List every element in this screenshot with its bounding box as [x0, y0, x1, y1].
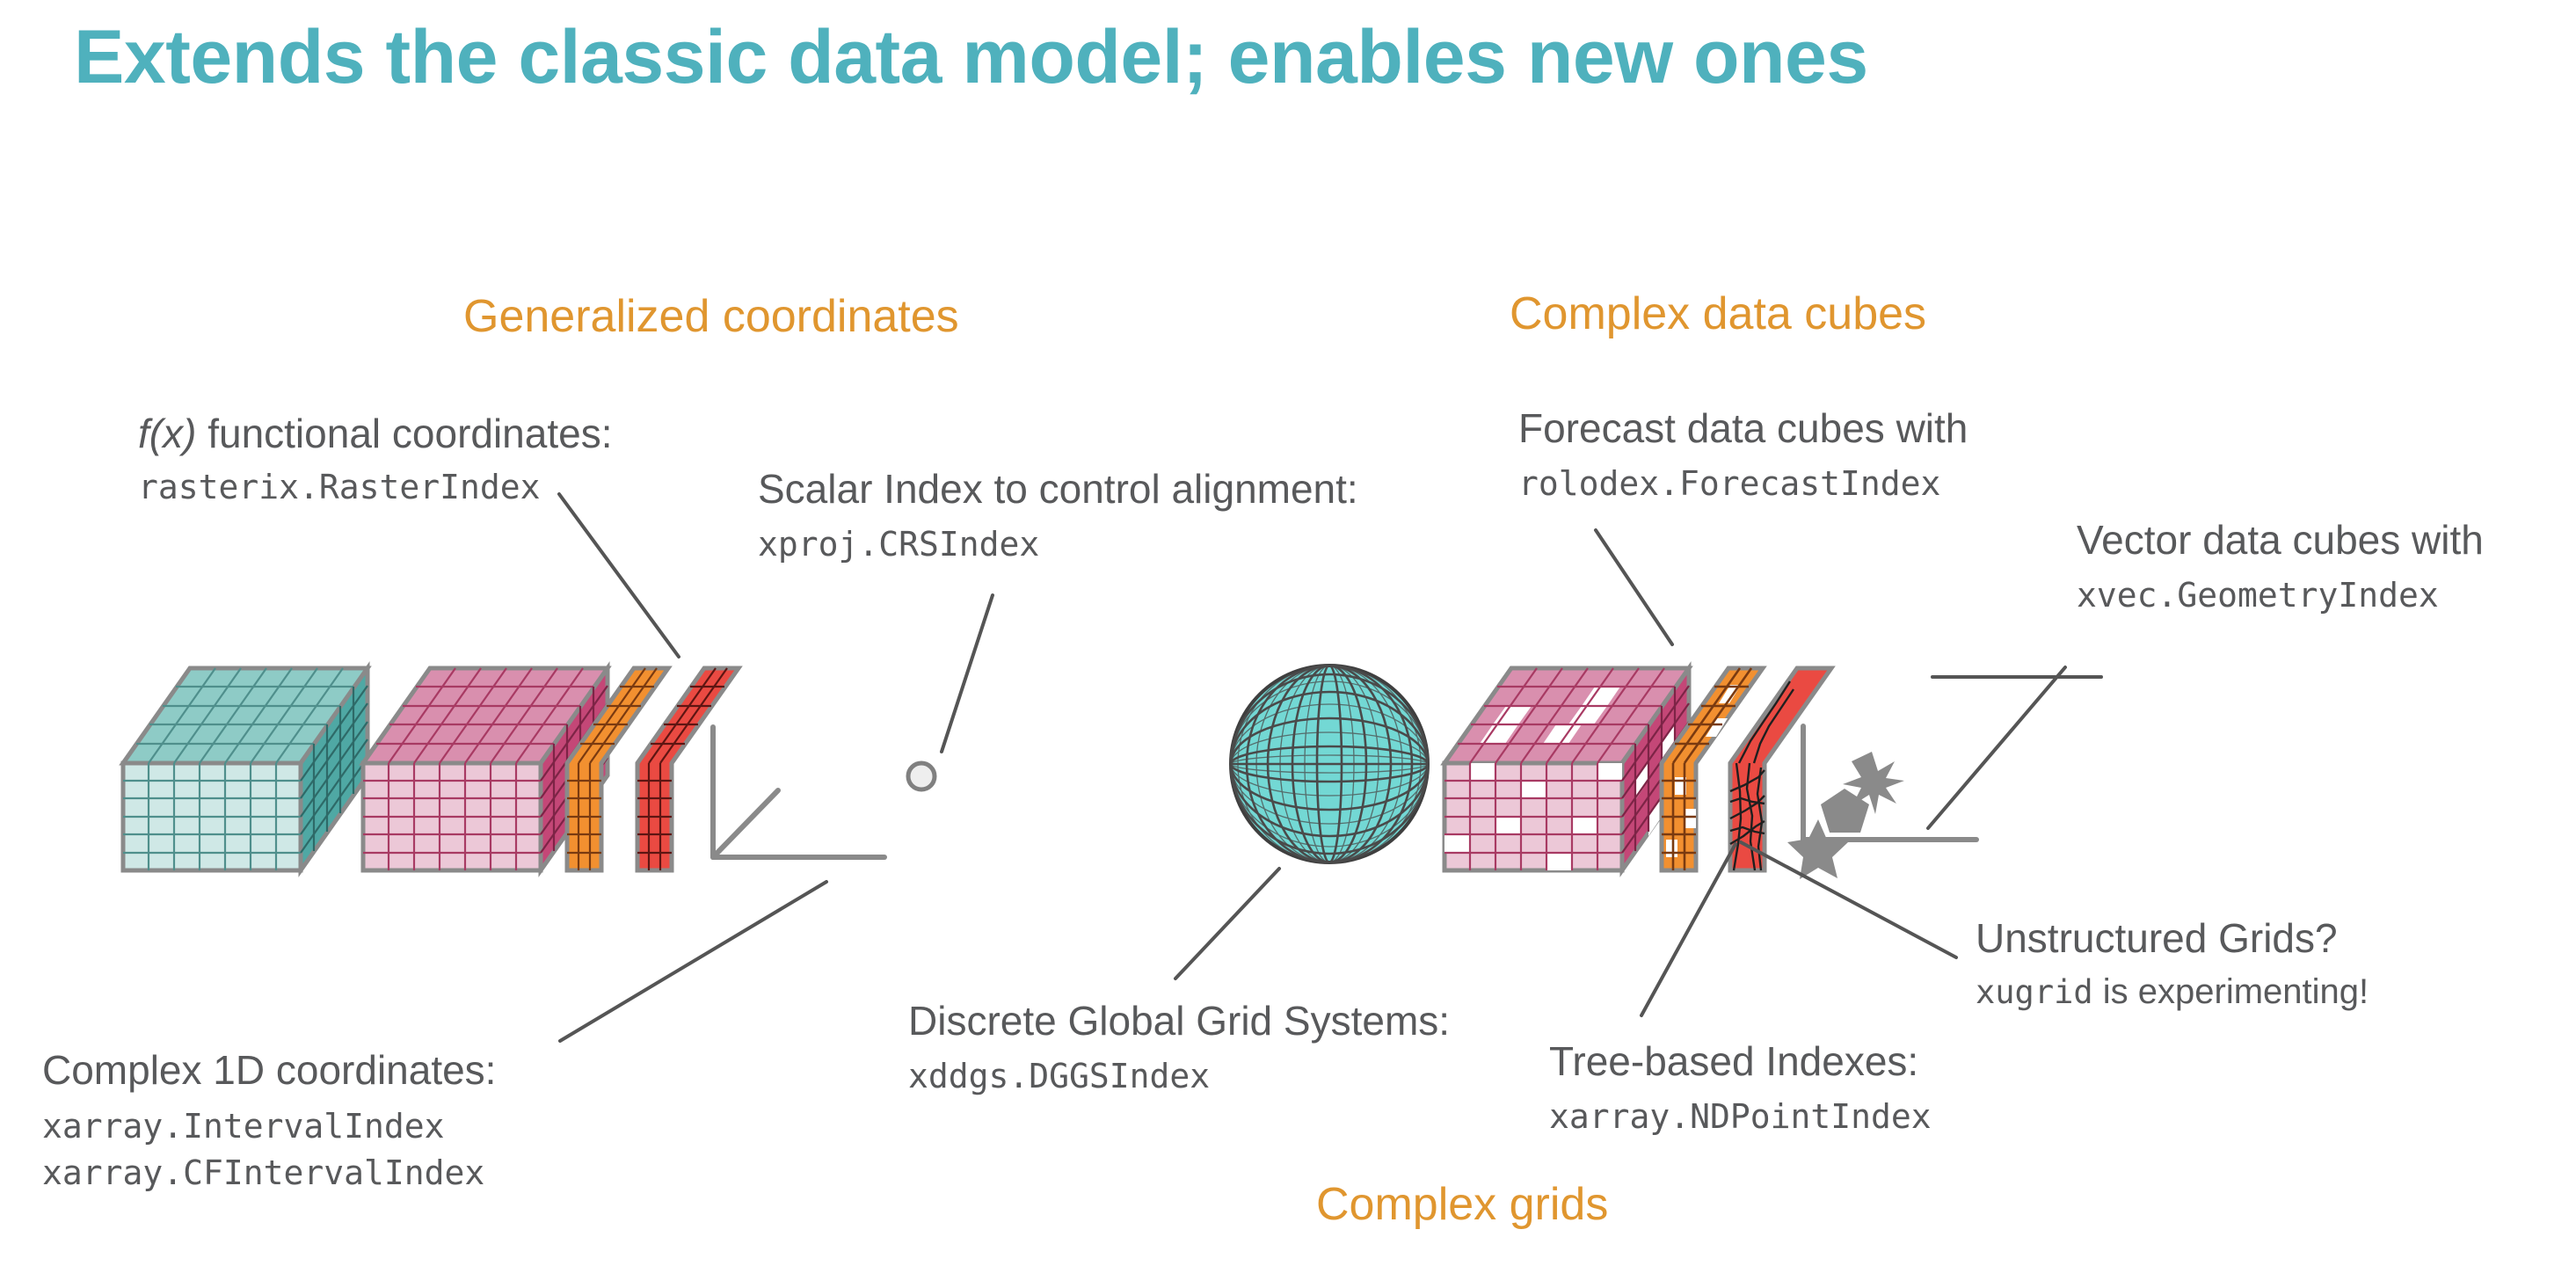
cyan-globe	[1231, 666, 1428, 862]
callout-forecast-cubes-code: rolodex.ForecastIndex	[1518, 464, 1940, 503]
section-heading-complex-grids: Complex grids	[1316, 1178, 1608, 1231]
callout-functional-coordinates-code: rasterix.RasterIndex	[138, 468, 541, 506]
page-title: Extends the classic data model; enables …	[74, 14, 1868, 101]
slide-canvas: Extends the classic data model; enables …	[0, 0, 2576, 1266]
callout-tree-indexes-code: xarray.NDPointIndex	[1549, 1097, 1932, 1136]
right-group	[1231, 666, 1976, 879]
eight-point-star-glyph	[1843, 752, 1904, 814]
pink-sparse-cube	[1444, 668, 1689, 870]
callout-vector-cubes-title: Vector data cubes with	[2077, 516, 2484, 564]
connector-rasterix	[559, 494, 679, 657]
callout-complex-1d-code-interval: xarray.IntervalIndex	[42, 1107, 445, 1146]
3d-axes	[713, 727, 884, 857]
connector-crs	[942, 595, 993, 752]
red-plane	[637, 668, 739, 870]
connector-lines	[559, 494, 2101, 1041]
pentagon-glyph	[1821, 789, 1869, 833]
connector-tree	[1641, 844, 1736, 1015]
callout-forecast-cubes-title: Forecast data cubes with	[1518, 404, 1968, 452]
callout-functional-coordinates-title: f(x) functional coordinates:	[138, 410, 613, 457]
callout-unstructured-grids-title: Unstructured Grids?	[1976, 914, 2338, 962]
section-heading-generalized-coordinates: Generalized coordinates	[463, 290, 959, 343]
callout-dggs-title: Discrete Global Grid Systems:	[908, 997, 1450, 1044]
callout-scalar-index-code: xproj.CRSIndex	[758, 525, 1039, 564]
callout-tree-indexes-title: Tree-based Indexes:	[1549, 1037, 1918, 1085]
2d-axes	[1803, 726, 1976, 840]
five-point-star-glyph	[1787, 819, 1848, 879]
connector-unstructured	[1741, 842, 1956, 957]
callout-vector-cubes-code: xvec.GeometryIndex	[2077, 576, 2439, 615]
callout-dggs-code: xddgs.DGGSIndex	[908, 1057, 1210, 1095]
orange-irregular-plane	[1662, 668, 1763, 870]
scalar-index-circle	[908, 763, 935, 789]
callout-unstructured-grids-package: xugrid	[1976, 973, 2093, 1011]
connector-dggs	[1175, 869, 1279, 979]
callout-functional-coordinates-rest: functional coordinates:	[196, 411, 612, 456]
callout-unstructured-grids-suffix: is experimenting!	[2093, 972, 2369, 1011]
callout-functional-coordinates-fx: f(x)	[138, 411, 196, 456]
connector-complex1d	[560, 882, 826, 1041]
callout-complex-1d-title: Complex 1D coordinates:	[42, 1046, 496, 1094]
connector-forecast	[1596, 530, 1672, 644]
callout-scalar-index-title: Scalar Index to control alignment:	[758, 465, 1358, 513]
callout-complex-1d-code-cfinterval: xarray.CFIntervalIndex	[42, 1153, 484, 1192]
pink-data-cube	[363, 668, 608, 870]
teal-data-cube	[123, 668, 367, 870]
orange-plane	[567, 668, 668, 870]
red-mesh-plane	[1730, 668, 1831, 870]
section-heading-complex-data-cubes: Complex data cubes	[1510, 287, 1926, 340]
connector-vector-line	[1928, 667, 2065, 828]
left-group	[123, 668, 935, 870]
vector-geometry-glyphs	[1787, 752, 1904, 879]
callout-unstructured-grids-note: xugrid is experimenting!	[1976, 972, 2369, 1012]
